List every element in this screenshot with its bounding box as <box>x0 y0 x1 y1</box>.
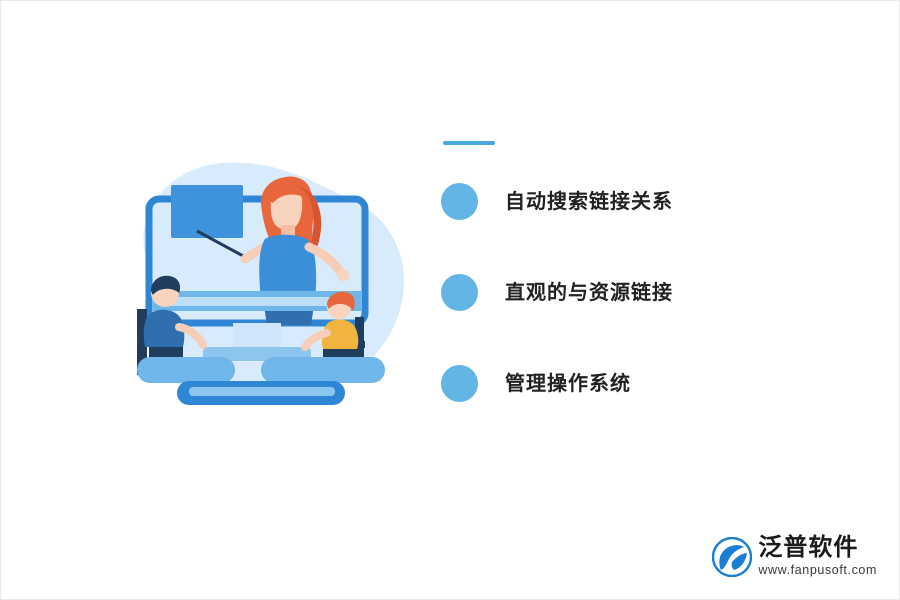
monitor-stand <box>233 323 281 347</box>
desk-right <box>261 357 385 383</box>
desk-left <box>137 357 235 383</box>
brand-logo: 泛普软件 www.fanpusoft.com <box>712 535 877 577</box>
slide-page: 自动搜索链接关系 直观的与资源链接 管理操作系统 泛普软件 www.fanpus… <box>0 0 900 600</box>
bullet-label-3: 管理操作系统 <box>505 372 631 396</box>
bullet-item-2: 直观的与资源链接 <box>441 274 841 311</box>
desk-front-highlight <box>189 387 335 396</box>
logo-text-block: 泛普软件 www.fanpusoft.com <box>758 535 877 577</box>
bullet-label-2: 直观的与资源链接 <box>505 281 673 305</box>
logo-company-name: 泛普软件 <box>758 535 858 560</box>
online-classroom-illustration <box>111 141 421 431</box>
accent-rule <box>443 141 495 145</box>
bullet-dot-icon <box>441 274 478 311</box>
bullet-item-1: 自动搜索链接关系 <box>441 183 841 220</box>
feature-bullet-list: 自动搜索链接关系 直观的与资源链接 管理操作系统 <box>441 141 841 456</box>
fanpu-logo-icon <box>712 537 752 577</box>
desk-bar-light <box>163 297 351 306</box>
bullet-item-3: 管理操作系统 <box>441 365 841 402</box>
logo-website-url: www.fanpusoft.com <box>758 563 877 577</box>
bullet-label-1: 自动搜索链接关系 <box>505 190 673 214</box>
bullet-dot-icon <box>441 365 478 402</box>
whiteboard <box>171 185 243 238</box>
bullet-dot-icon <box>441 183 478 220</box>
